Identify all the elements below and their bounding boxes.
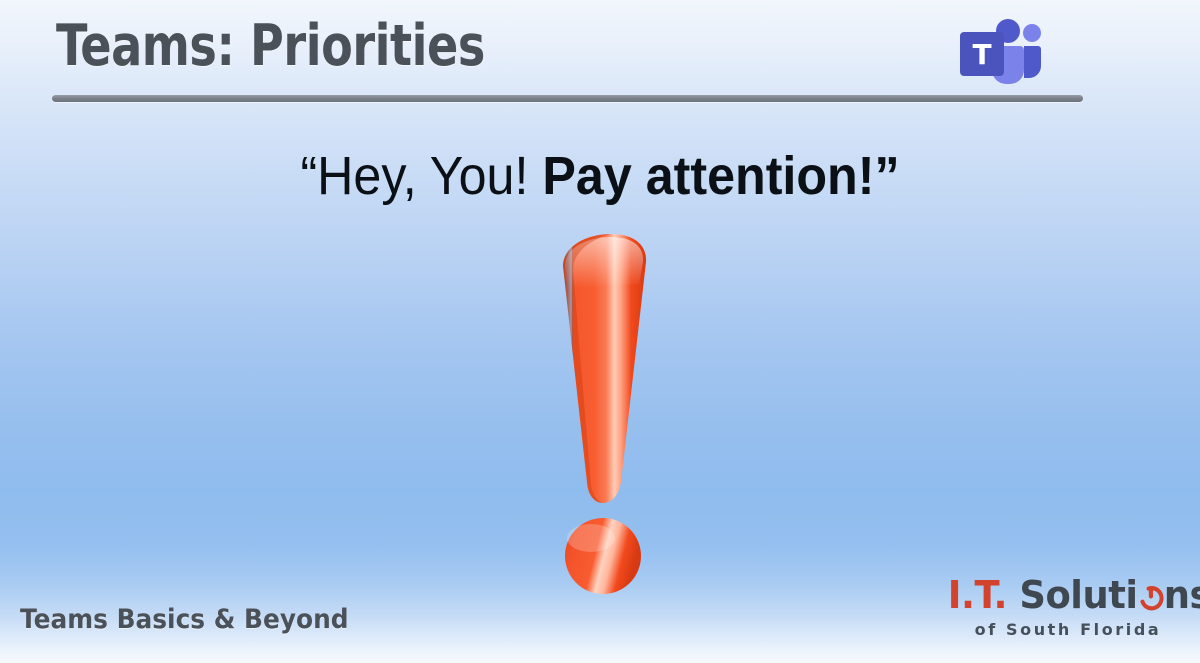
footer-series-label: Teams Basics & Beyond [20,604,349,635]
its-ns-text: ns [1164,573,1200,617]
quote-light-part: “Hey, You! [300,146,542,206]
power-symbol-icon [1138,585,1164,612]
it-solutions-logo: I.T. Solutins I.T. Solutins of South Flo… [944,575,1192,655]
microsoft-teams-logo: T [952,18,1048,92]
it-solutions-wordmark: I.T. Solutins I.T. Solutins [948,575,1189,615]
page-title: Teams: Priorities [56,18,485,75]
exclamation-mark-graphic [529,232,681,600]
its-it-text: I.T. [948,573,1007,617]
slide-canvas: Teams: Priorities T “Hey, You! Pay atten… [0,0,1200,663]
quote-line: “Hey, You! Pay attention!” [42,148,1158,205]
svg-text:T: T [972,38,991,71]
title-divider [52,95,1083,102]
quote-bold-part: Pay attention!” [542,146,899,206]
it-solutions-tagline: of South Florida [944,620,1192,639]
its-soluti-text: Soluti [1007,573,1137,617]
